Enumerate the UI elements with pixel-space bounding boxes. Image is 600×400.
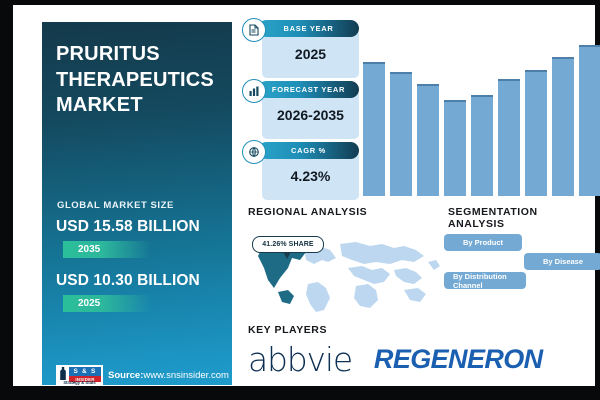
section-heading-key-players: KEY PLAYERS <box>248 324 327 336</box>
growth-globe-icon <box>242 140 266 164</box>
lighthouse-icon <box>58 367 68 380</box>
sns-insider-logo: S & S INSIDER Strategy & Stats <box>56 365 103 385</box>
stat-label: FORECAST YEAR <box>272 85 345 94</box>
year-badge-2035: 2035 <box>63 241 151 258</box>
stat-header: CAGR % <box>258 142 359 159</box>
logo-tagline: Strategy & Stats <box>57 380 102 385</box>
stat-value: 2026-2035 <box>262 107 359 123</box>
world-map: 41.26% SHARE <box>244 226 442 318</box>
bar-4 <box>444 100 466 196</box>
outer-frame: PRURITUS THERAPEUTICS MARKET GLOBAL MARK… <box>0 0 600 400</box>
segment-by-distribution-channel[interactable]: By Distribution Channel <box>444 272 526 289</box>
page-title: PRURITUS THERAPEUTICS MARKET <box>56 42 226 119</box>
bar-3 <box>417 84 439 196</box>
bar-8 <box>552 57 574 196</box>
segment-by-disease[interactable]: By Disease <box>524 253 600 270</box>
section-heading-segmentation: SEGMENTATION ANALYSIS <box>448 206 592 230</box>
year-badge-2025: 2025 <box>63 295 151 312</box>
abbvie-logo: abbvie <box>248 340 352 379</box>
left-panel: PRURITUS THERAPEUTICS MARKET GLOBAL MARK… <box>42 22 232 385</box>
market-value-2025: USD 10.30 BILLION <box>56 272 200 290</box>
regeneron-logo: REGENERON <box>374 344 543 375</box>
share-badge-label: 41.26% SHARE <box>262 241 313 248</box>
bar-7 <box>525 70 547 196</box>
section-heading-regional: REGIONAL ANALYSIS <box>248 206 367 218</box>
bar-2 <box>390 72 412 196</box>
source-prefix: Source: <box>108 370 143 381</box>
key-players-logos: abbvie REGENERON <box>248 338 600 380</box>
market-growth-bar-chart <box>363 24 600 196</box>
stat-value: 4.23% <box>262 168 359 184</box>
logo-ss-text: S & S <box>69 367 101 376</box>
stat-label: BASE YEAR <box>284 24 334 33</box>
global-market-size-label: GLOBAL MARKET SIZE <box>57 200 174 211</box>
bar-1 <box>363 62 385 196</box>
stat-value: 2025 <box>262 46 359 62</box>
bar-9 <box>579 45 600 196</box>
source-text: Source:www.snsinsider.com <box>108 370 229 381</box>
bar-6 <box>498 79 520 196</box>
bar-chart-icon <box>242 79 266 103</box>
infographic-card: PRURITUS THERAPEUTICS MARKET GLOBAL MARK… <box>16 8 592 383</box>
segment-by-product[interactable]: By Product <box>444 234 522 251</box>
stat-header: FORECAST YEAR <box>258 81 359 98</box>
bar-5 <box>471 95 493 196</box>
source-row: S & S INSIDER Strategy & Stats Source:ww… <box>56 365 229 385</box>
stat-label: CAGR % <box>291 146 326 155</box>
source-url: www.snsinsider.com <box>143 370 229 381</box>
document-icon <box>242 18 266 42</box>
stat-header: BASE YEAR <box>258 20 359 37</box>
market-value-2035: USD 15.58 BILLION <box>56 218 200 236</box>
regional-share-badge: 41.26% SHARE <box>252 236 324 253</box>
